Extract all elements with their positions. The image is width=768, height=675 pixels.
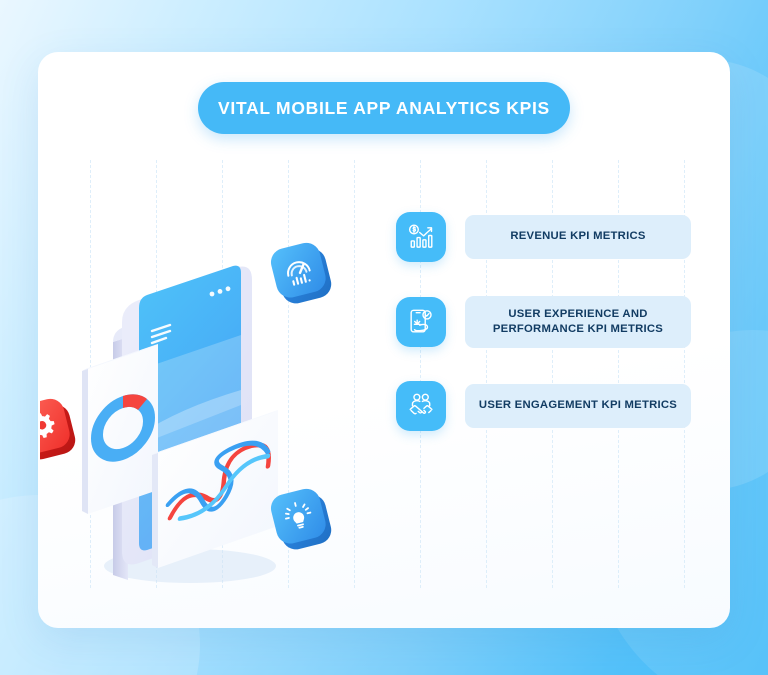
kpi-label-pill: REVENUE KPI METRICS (465, 215, 691, 259)
kpi-item-user-experience[interactable]: USER EXPERIENCE AND PERFORMANCE KPI METR… (396, 296, 691, 348)
kpi-label-text: REVENUE KPI METRICS (510, 229, 645, 244)
revenue-chart-icon (396, 212, 446, 262)
speedometer-badge (268, 239, 334, 307)
page-title-text: VITAL MOBILE APP ANALYTICS KPIS (218, 98, 550, 119)
page-title: VITAL MOBILE APP ANALYTICS KPIS (198, 82, 570, 134)
kpi-label-pill: USER EXPERIENCE AND PERFORMANCE KPI METR… (465, 296, 691, 348)
donut-chart-card (82, 344, 158, 514)
kpi-label-text: USER EXPERIENCE AND PERFORMANCE KPI METR… (493, 307, 663, 338)
gear-badge (40, 395, 78, 463)
handshake-people-icon (396, 381, 446, 431)
kpi-label-pill: USER ENGAGEMENT KPI METRICS (465, 384, 691, 428)
kpi-item-user-engagement[interactable]: USER ENGAGEMENT KPI METRICS (396, 381, 691, 431)
kpi-label-text: USER ENGAGEMENT KPI METRICS (479, 398, 677, 413)
infographic-canvas: VITAL MOBILE APP ANALYTICS KPIS REVENUE … (0, 0, 768, 675)
kpi-item-revenue[interactable]: REVENUE KPI METRICS (396, 212, 691, 262)
isometric-mobile-analytics-illustration (40, 230, 370, 600)
mobile-experience-icon (396, 297, 446, 347)
